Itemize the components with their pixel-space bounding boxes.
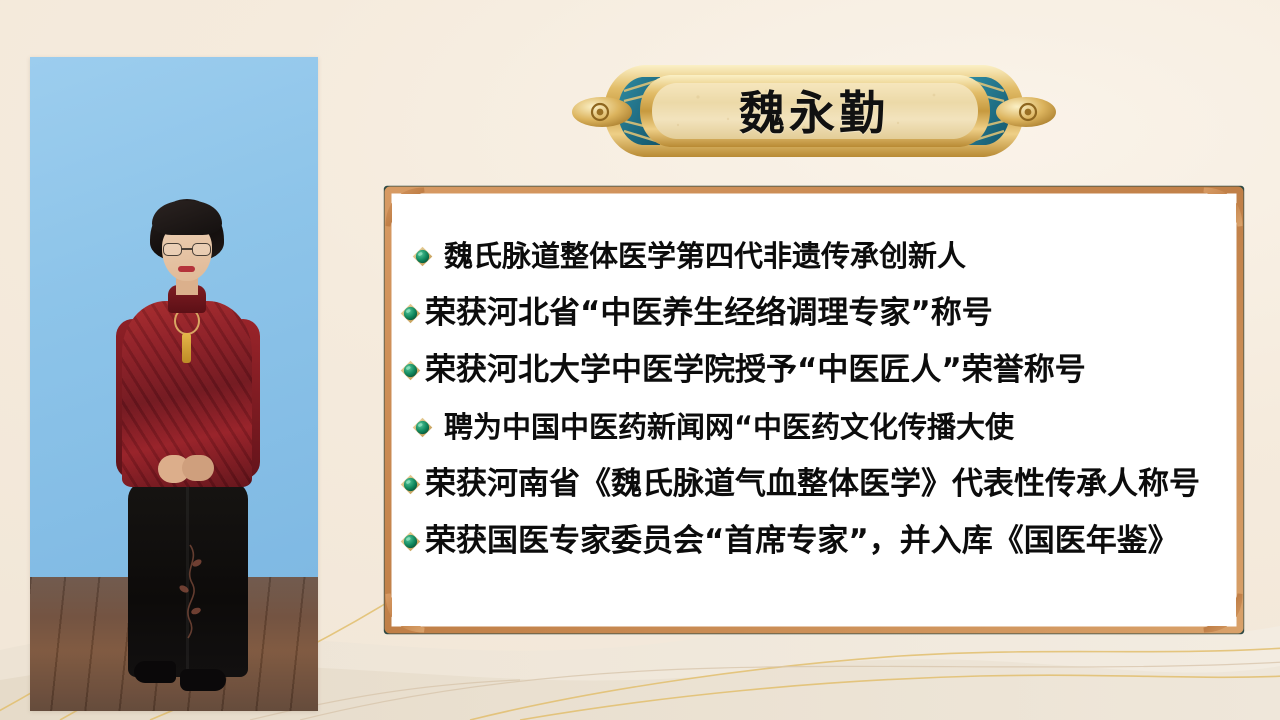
garment-embroidery [170,543,212,639]
green-gem-bullet-icon [400,360,421,381]
list-item: 荣获国医专家委员会“首席专家”，并入库《国医年鉴》 [400,513,1230,570]
green-gem-bullet-icon [400,303,421,324]
person-shoe-right [180,669,226,691]
page-title: 魏永勤 [568,57,1060,165]
necklace-pendant [182,333,191,363]
person-lips [178,266,195,272]
list-item-label: 荣获河北大学中医学院授予“中医匠人”荣誉称号 [425,355,1086,386]
person-hand-right [182,455,214,481]
list-item-label: 荣获河北省“中医养生经络调理专家”称号 [425,298,993,329]
list-item-label: 荣获河南省《魏氏脉道气血整体医学》代表性传承人称号 [425,469,1200,500]
list-item: 荣获河北省“中医养生经络调理专家”称号 [400,285,1230,342]
list-item: 荣获河北大学中医学院授予“中医匠人”荣誉称号 [400,342,1230,399]
list-item: 聘为中国中医药新闻网“中医药文化传播大使 [400,399,1230,456]
list-item: 荣获河南省《魏氏脉道气血整体医学》代表性传承人称号 [400,456,1230,513]
green-gem-bullet-icon [412,246,433,267]
person-shoe-left [134,661,176,683]
card-content-area: 魏氏脉道整体医学第四代非遗传承创新人 荣获河北省“中医养生经络调理专家”称号 [392,194,1236,626]
green-gem-bullet-icon [400,474,421,495]
green-gem-bullet-icon [400,531,421,552]
credentials-card: 魏氏脉道整体医学第四代非遗传承创新人 荣获河北省“中医养生经络调理专家”称号 [378,180,1250,640]
list-item-label: 魏氏脉道整体医学第四代非遗传承创新人 [444,242,966,271]
green-gem-bullet-icon [412,417,433,438]
list-item-label: 聘为中国中医药新闻网“中医药文化传播大使 [444,413,1014,442]
person-hair-fringe [152,201,222,235]
list-item: 魏氏脉道整体医学第四代非遗传承创新人 [400,228,1230,285]
title-plaque: 魏永勤 [568,57,1060,165]
eyeglasses-icon [163,243,211,256]
portrait-photo [30,57,318,711]
list-item-label: 荣获国医专家委员会“首席专家”，并入库《国医年鉴》 [425,526,1179,557]
credentials-list: 魏氏脉道整体医学第四代非遗传承创新人 荣获河北省“中医养生经络调理专家”称号 [400,228,1230,570]
